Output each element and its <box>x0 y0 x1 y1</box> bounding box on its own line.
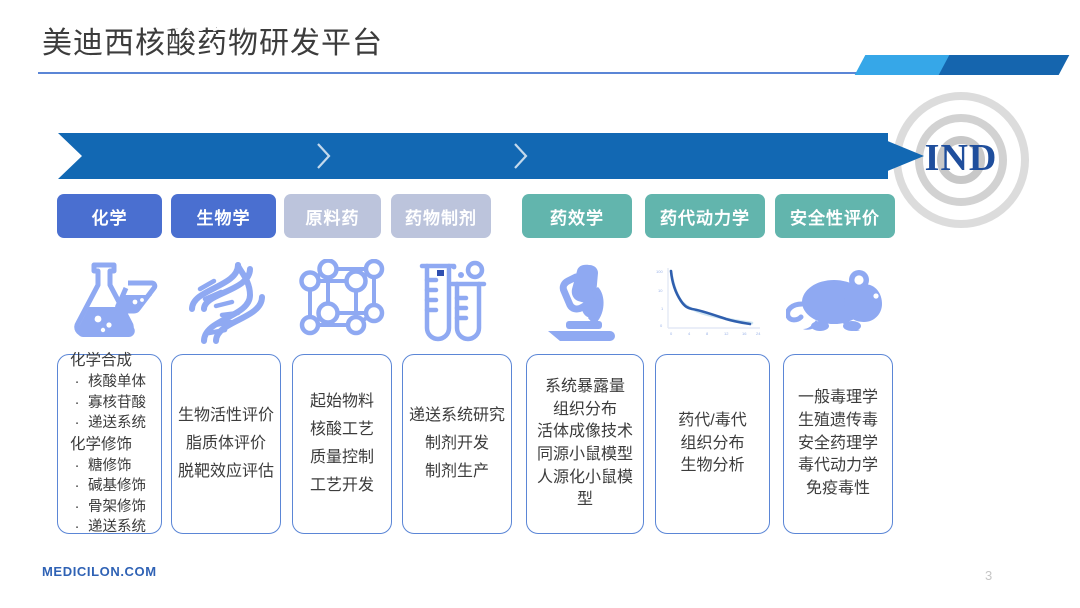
bullet-dot-icon: · <box>72 393 82 414</box>
discipline-pill-label: 化学 <box>92 204 128 229</box>
detail-line-item: 制剂开发 <box>409 430 505 458</box>
footer-brand: MEDICILON.COM <box>42 564 157 579</box>
detail-line-item: 脱靶效应评估 <box>178 458 274 486</box>
phase-label-pharmaceutics[interactable]: 药学研究 <box>330 0 510 46</box>
detail-line-item: 人源化小鼠模型 <box>533 467 637 512</box>
phase-label-preclinical[interactable]: 临床前研究 <box>550 0 790 46</box>
detail-line-item: 组织分布 <box>662 433 763 456</box>
discipline-pill-6[interactable]: 安全性评价 <box>775 194 895 238</box>
detail-bullet-item: ·核酸单体 <box>64 372 155 393</box>
detail-box-api[interactable]: 起始物料核酸工艺质量控制工艺开发 <box>292 354 392 534</box>
detail-box-pharmacology[interactable]: 系统暴露量组织分布活体成像技术同源小鼠模型人源化小鼠模型 <box>526 354 644 534</box>
discipline-pill-5[interactable]: 药代动力学 <box>645 194 765 238</box>
detail-line-item: 毒代动力学 <box>790 455 886 478</box>
detail-bullet-label: 递送系统 <box>88 517 146 538</box>
bullet-dot-icon: · <box>72 476 82 497</box>
detail-line-item: 同源小鼠模型 <box>533 444 637 467</box>
dna-helix-icon <box>172 255 282 350</box>
test-tubes-icon <box>398 255 508 350</box>
discipline-pill-label: 原料药 <box>306 204 360 229</box>
detail-line-item: 一般毒理学 <box>790 387 886 410</box>
detail-line-item: 生物分析 <box>662 455 763 478</box>
svg-text:100: 100 <box>656 269 663 274</box>
detail-line-item: 生殖遗传毒 <box>790 410 886 433</box>
bullet-dot-icon: · <box>72 372 82 393</box>
chevron-right-icon <box>513 142 529 170</box>
detail-line-item: 安全药理学 <box>790 433 886 456</box>
bullet-dot-icon: · <box>72 413 82 434</box>
svg-text:0: 0 <box>670 331 673 336</box>
detail-bullet-item: ·糖修饰 <box>64 456 155 477</box>
detail-bullet-item: ·递送系统 <box>64 517 155 538</box>
discipline-pill-4[interactable]: 药效学 <box>522 194 632 238</box>
svg-text:24: 24 <box>756 331 761 336</box>
svg-text:10: 10 <box>658 288 663 293</box>
molecule-lattice-icon <box>285 255 395 350</box>
header-accent-parallelogram-light <box>855 55 954 75</box>
phase-label-discovery[interactable]: 药物发现 <box>118 0 298 46</box>
discipline-pill-label: 药物制剂 <box>405 204 477 229</box>
detail-line-item: 起始物料 <box>299 388 385 416</box>
svg-text:1: 1 <box>661 306 664 311</box>
detail-line-item: 系统暴露量 <box>533 376 637 399</box>
detail-bullet-label: 递送系统 <box>88 413 146 434</box>
detail-bullet-item: ·碱基修饰 <box>64 476 155 497</box>
detail-box-chemistry[interactable]: 化学合成·核酸单体·寡核苷酸·递送系统化学修饰·糖修饰·碱基修饰·骨架修饰·递送… <box>57 354 162 534</box>
discipline-pill-label: 药效学 <box>550 204 604 229</box>
detail-line-item: 制剂生产 <box>409 458 505 486</box>
phase-banner-arrowhead <box>868 133 924 179</box>
detail-line-item: 质量控制 <box>299 444 385 472</box>
page-number: 3 <box>985 568 992 583</box>
lab-mouse-icon <box>778 255 898 350</box>
bullet-dot-icon: · <box>72 497 82 518</box>
detail-box-formulation[interactable]: 递送系统研究制剂开发制剂生产 <box>402 354 512 534</box>
detail-box-biology[interactable]: 生物活性评价脂质体评价脱靶效应评估 <box>171 354 281 534</box>
detail-line-item: 免疫毒性 <box>790 478 886 501</box>
svg-text:4: 4 <box>688 331 691 336</box>
detail-line-item: 工艺开发 <box>299 472 385 500</box>
discipline-pill-3[interactable]: 药物制剂 <box>391 194 491 238</box>
pk-curve-chart-icon: 1001010 048 121624 <box>648 255 768 350</box>
detail-line-item: 组织分布 <box>533 399 637 422</box>
detail-line-item: 脂质体评价 <box>178 430 274 458</box>
detail-line-item: 活体成像技术 <box>533 421 637 444</box>
detail-group-heading: 化学合成 <box>64 350 155 372</box>
detail-bullet-label: 寡核苷酸 <box>88 393 146 414</box>
phase-banner <box>58 133 924 179</box>
detail-group-heading: 化学修饰 <box>64 434 155 456</box>
detail-bullet-label: 糖修饰 <box>88 456 132 477</box>
discipline-pill-label: 生物学 <box>197 204 251 229</box>
discipline-pill-label: 安全性评价 <box>790 204 880 229</box>
detail-line-item: 生物活性评价 <box>178 402 274 430</box>
detail-box-safety[interactable]: 一般毒理学生殖遗传毒安全药理学毒代动力学免疫毒性 <box>783 354 893 534</box>
detail-bullet-item: ·骨架修饰 <box>64 497 155 518</box>
detail-bullet-label: 碱基修饰 <box>88 476 146 497</box>
phase-banner-body <box>58 133 888 179</box>
detail-box-pk-adme[interactable]: 药代/毒代组织分布生物分析 <box>655 354 770 534</box>
bullet-dot-icon: · <box>72 456 82 477</box>
microscope-icon <box>524 255 634 350</box>
detail-bullet-label: 核酸单体 <box>88 372 146 393</box>
svg-text:16: 16 <box>742 331 747 336</box>
svg-text:12: 12 <box>724 331 729 336</box>
flask-beaker-icon <box>60 255 170 350</box>
detail-line-item: 递送系统研究 <box>409 402 505 430</box>
discipline-pill-label: 药代动力学 <box>660 204 750 229</box>
chevron-right-icon <box>316 142 332 170</box>
discipline-pill-1[interactable]: 生物学 <box>171 194 276 238</box>
detail-bullet-label: 骨架修饰 <box>88 497 146 518</box>
discipline-pill-2[interactable]: 原料药 <box>284 194 381 238</box>
detail-bullet-item: ·寡核苷酸 <box>64 393 155 414</box>
svg-text:8: 8 <box>706 331 709 336</box>
header-accent-parallelogram-dark <box>939 55 1070 75</box>
bullet-dot-icon: · <box>72 517 82 538</box>
detail-bullet-item: ·递送系统 <box>64 413 155 434</box>
detail-line-item: 药代/毒代 <box>662 410 763 433</box>
discipline-pill-0[interactable]: 化学 <box>57 194 162 238</box>
svg-text:0: 0 <box>660 323 663 328</box>
detail-line-item: 核酸工艺 <box>299 416 385 444</box>
